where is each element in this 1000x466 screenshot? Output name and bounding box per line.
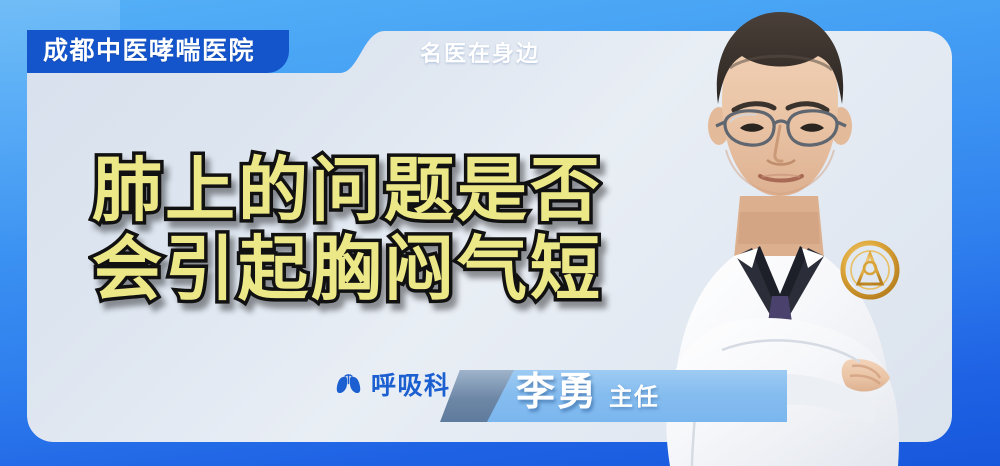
department-group: 呼吸科 xyxy=(335,374,451,399)
doctor-title-label: 主任 xyxy=(609,386,659,410)
banner-stage: 成都中医哮喘医院 名医在身边 肺上的问题是否 会引起胸闷气短 xyxy=(0,0,1000,466)
doctor-name-bar: 呼吸科 李勇 主任 xyxy=(0,368,1000,424)
department-label: 呼吸科 xyxy=(371,374,451,399)
hospital-name-badge: 成都中医哮喘医院 xyxy=(27,30,289,73)
doctor-identity: 李勇 主任 xyxy=(516,373,659,412)
lungs-icon xyxy=(335,374,362,399)
headline: 肺上的问题是否 会引起胸闷气短 xyxy=(92,155,603,306)
doctor-name-label: 李勇 xyxy=(516,373,598,412)
headline-line-2: 会引起胸闷气短 xyxy=(92,234,603,305)
headline-line-1: 肺上的问题是否 xyxy=(92,155,603,226)
tagline-label: 名医在身边 xyxy=(420,36,540,68)
hospital-name-label: 成都中医哮喘医院 xyxy=(43,39,255,64)
